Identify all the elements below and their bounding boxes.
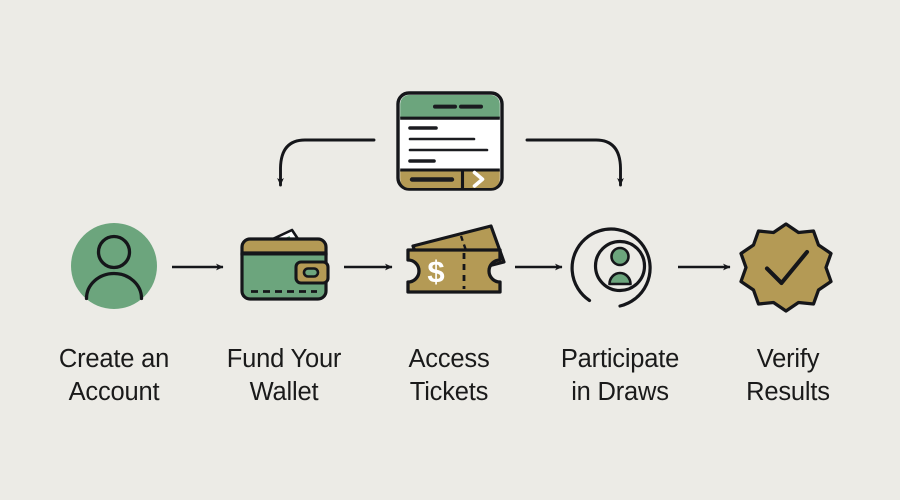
dollar-glyph: $ xyxy=(427,254,444,289)
app-window-card-icon xyxy=(398,93,502,189)
connector-curve-left xyxy=(281,140,375,185)
step-label-access-tickets: Access Tickets xyxy=(354,343,544,409)
draw-participant-icon xyxy=(572,229,650,306)
flow-graphics: $ xyxy=(0,0,900,500)
onboarding-flow-diagram: $ Create an Account Fund Your Wallet Acc… xyxy=(0,0,900,500)
connector-curve-right xyxy=(527,140,621,185)
tickets-icon: $ xyxy=(408,226,504,292)
wallet-icon xyxy=(242,230,328,299)
user-avatar-icon xyxy=(71,223,157,309)
step-label-verify-results: Verify Results xyxy=(690,343,886,409)
verified-badge-icon xyxy=(741,224,831,311)
